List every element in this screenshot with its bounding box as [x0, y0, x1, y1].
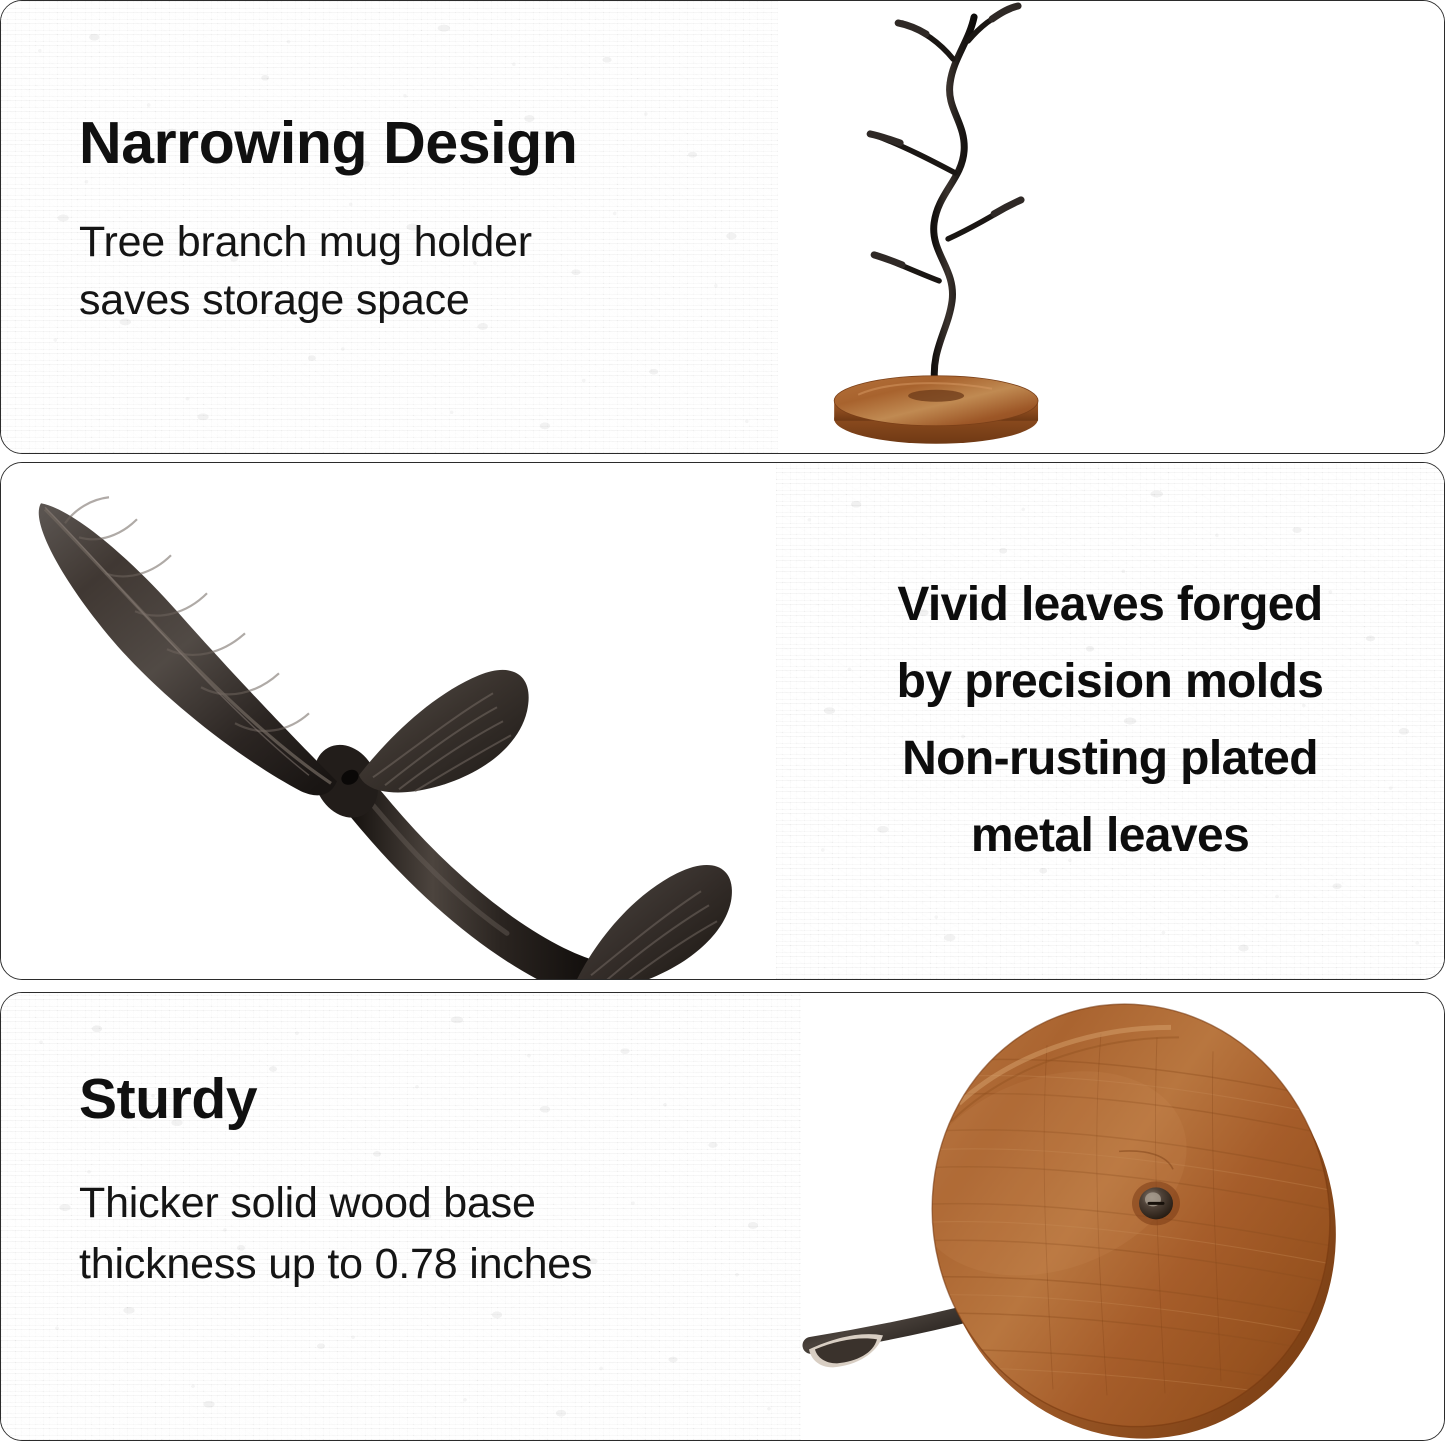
panel-2-photo-area — [1, 463, 776, 980]
panel-3-body-line-1: Thicker solid wood base — [79, 1178, 801, 1229]
panel-2-line-3: Non-rusting plated — [902, 735, 1318, 783]
panel-2-line-4: metal leaves — [971, 812, 1249, 860]
panel-1-heading: Narrowing Design — [79, 114, 778, 173]
wooden-base-closeup-image — [801, 993, 1444, 1440]
panel-2-line-1: Vivid leaves forged — [897, 581, 1322, 629]
leaf-top-left — [898, 23, 926, 34]
lower-leaf — [577, 865, 732, 980]
leaf-lower-left — [874, 255, 902, 265]
panel-3-heading: Sturdy — [79, 1071, 801, 1128]
panel-3-text-area: Sturdy Thicker solid wood base thickness… — [1, 993, 801, 1440]
tree-branch-mug-holder-full-stand-image — [778, 1, 1444, 453]
panel-1-body-line-2: saves storage space — [79, 275, 778, 326]
panel-2-text-area: Vivid leaves forged by precision molds N… — [776, 463, 1444, 980]
panel-1-body-line-1: Tree branch mug holder — [79, 217, 778, 268]
panel-3-photo-area — [801, 993, 1444, 1440]
panel-narrowing-design: Narrowing Design Tree branch mug holder … — [0, 0, 1445, 454]
panel-3-body-line-2: thickness up to 0.78 inches — [79, 1239, 801, 1290]
panel-3-body: Thicker solid wood base thickness up to … — [79, 1178, 801, 1289]
leaf-mid-right — [994, 200, 1021, 214]
panel-vivid-leaves: Vivid leaves forged by precision molds N… — [0, 462, 1445, 981]
panel-1-body: Tree branch mug holder saves storage spa… — [79, 217, 778, 326]
product-feature-infographic: Narrowing Design Tree branch mug holder … — [0, 0, 1445, 1441]
leaf-top-right — [992, 6, 1018, 19]
panel-2-copy: Vivid leaves forged by precision molds N… — [776, 463, 1444, 980]
leaf-mid-left — [870, 134, 900, 143]
main-stem — [934, 17, 974, 386]
panel-3-copy: Sturdy Thicker solid wood base thickness… — [1, 993, 801, 1440]
main-branch-stem — [353, 788, 601, 979]
metal-leaf-closeup-image — [1, 463, 776, 980]
panel-1-photo-area — [778, 1, 1444, 453]
panel-sturdy: Sturdy Thicker solid wood base thickness… — [0, 992, 1445, 1441]
panel-1-copy: Narrowing Design Tree branch mug holder … — [1, 1, 778, 453]
wood-base-slot — [908, 390, 964, 402]
panel-2-line-2: by precision molds — [897, 658, 1324, 706]
panel-1-text-area: Narrowing Design Tree branch mug holder … — [1, 1, 778, 453]
